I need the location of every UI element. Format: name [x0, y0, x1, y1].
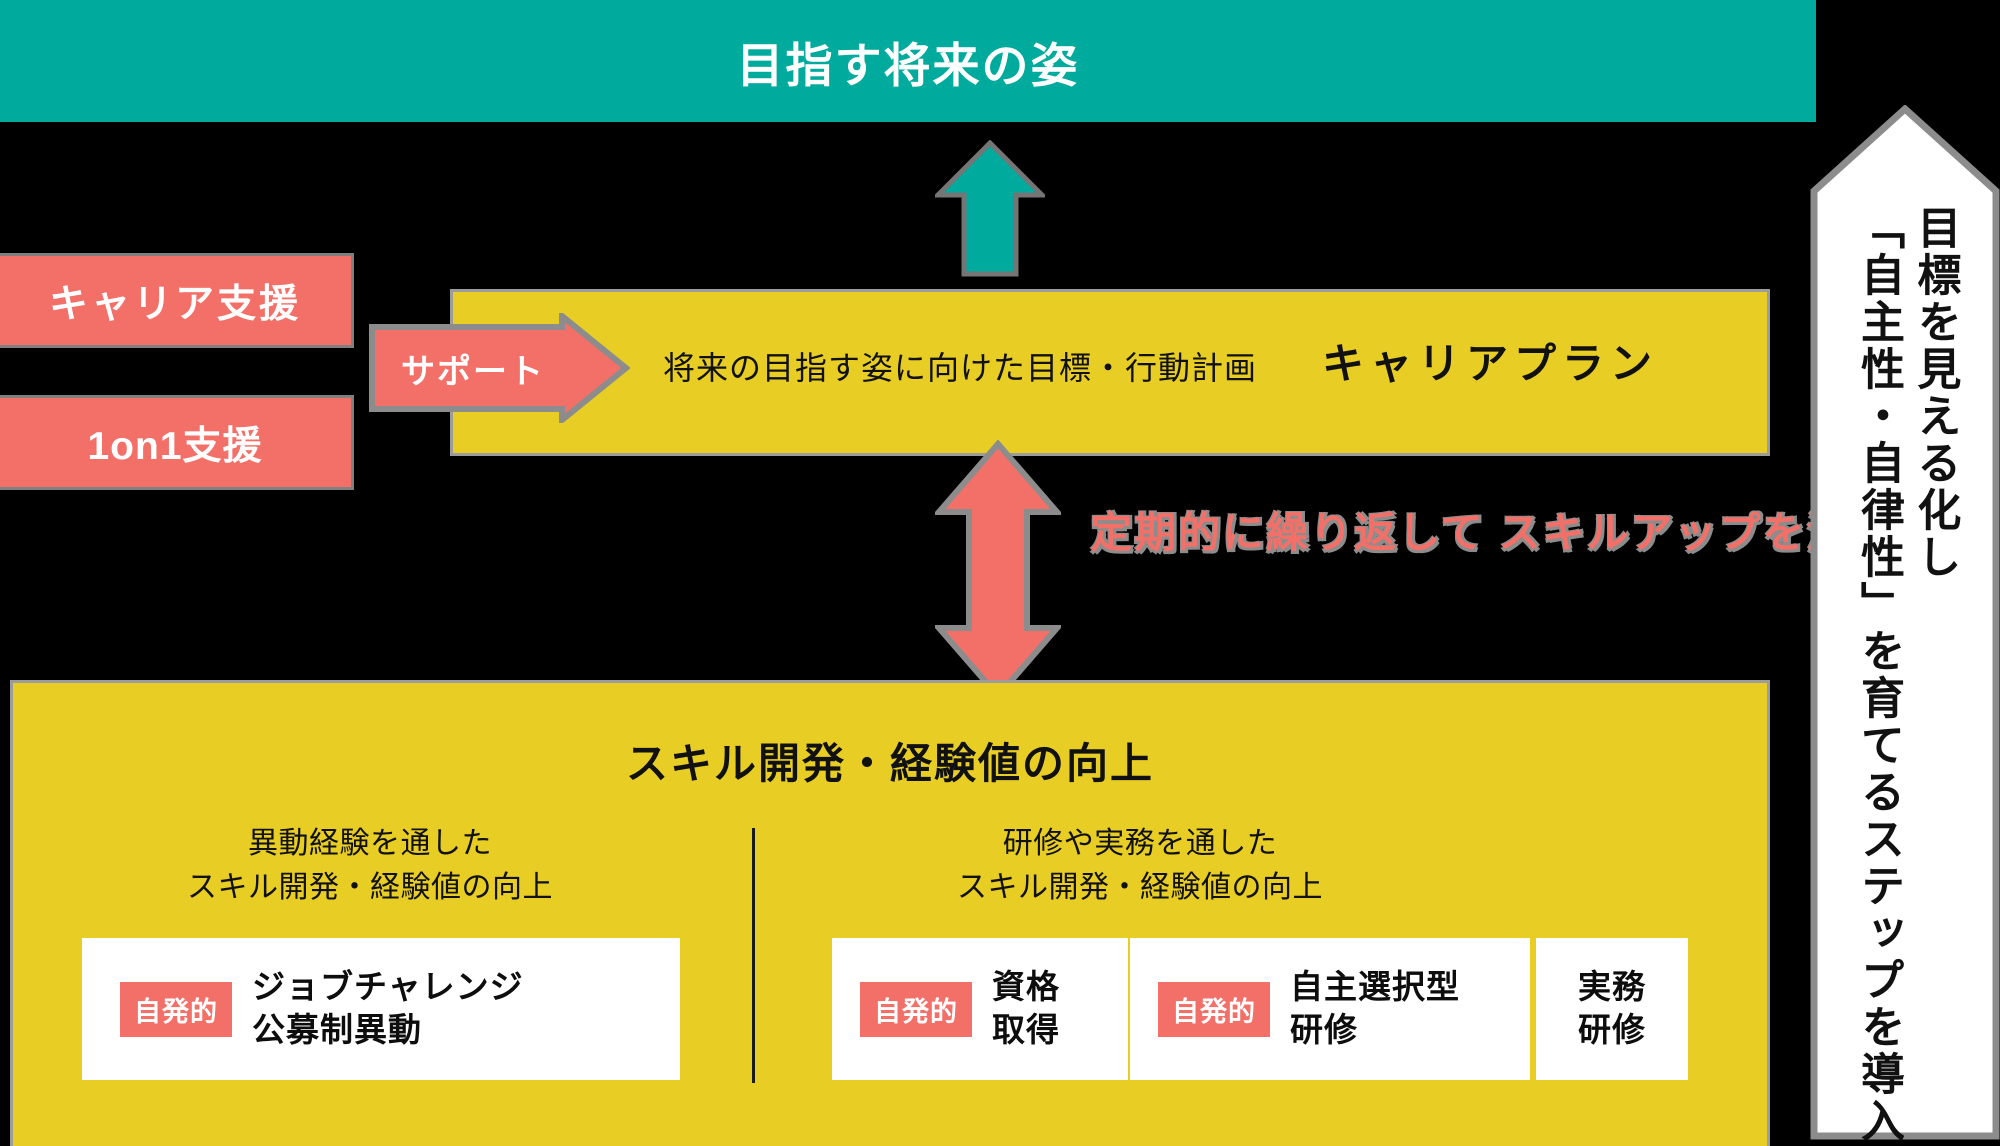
- career-plan-description: 将来の目指す姿に向けた目標・行動計画: [630, 343, 1290, 389]
- support-box-career-label: キャリア支援: [49, 273, 301, 329]
- skill-card-practical-training[interactable]: 実務 研修: [1536, 938, 1688, 1080]
- status-badge: 自発的: [860, 982, 972, 1037]
- support-box-1on1-label: 1on1支援: [87, 415, 262, 471]
- column-heading-transfer: 異動経験を通した スキル開発・経験値の向上: [60, 822, 680, 909]
- column-heading-training: 研修や実務を通した スキル開発・経験値の向上: [820, 822, 1460, 909]
- skill-card-label: 自主選択型 研修: [1290, 966, 1460, 1052]
- skill-card-job-challenge[interactable]: 自発的 ジョブチャレンジ 公募制異動: [82, 938, 680, 1080]
- up-arrow-icon: [935, 140, 1045, 277]
- double-arrow-icon: [935, 440, 1061, 700]
- skill-card-elective-training[interactable]: 自発的 自主選択型 研修: [1130, 938, 1530, 1080]
- skill-panel-title: スキル開発・経験値の向上: [10, 730, 1770, 791]
- cycle-text: 定期的に繰り返して スキルアップを測る: [1090, 505, 1894, 562]
- support-box-career[interactable]: キャリア支援: [0, 253, 354, 348]
- banner-arrow-icon: [1810, 105, 2000, 1140]
- support-box-1on1[interactable]: 1on1支援: [0, 395, 354, 490]
- status-badge: 自発的: [1158, 982, 1270, 1037]
- career-plan-title: キャリアプラン: [1290, 330, 1690, 391]
- column-divider: [752, 828, 755, 1083]
- status-badge: 自発的: [120, 982, 232, 1037]
- skill-card-label: 資格 取得: [992, 966, 1060, 1052]
- skill-card-certification[interactable]: 自発的 資格 取得: [832, 938, 1128, 1080]
- skill-card-label: ジョブチャレンジ 公募制異動: [252, 966, 524, 1052]
- skill-card-label: 実務 研修: [1578, 966, 1646, 1052]
- page-title: 目指す将来の姿: [0, 0, 1816, 122]
- diagram-canvas: 目指す将来の姿 キャリア支援 1on1支援 将来の目指す姿に向けた目標・行動計画…: [0, 0, 2000, 1146]
- right-arrow-icon: [368, 313, 630, 423]
